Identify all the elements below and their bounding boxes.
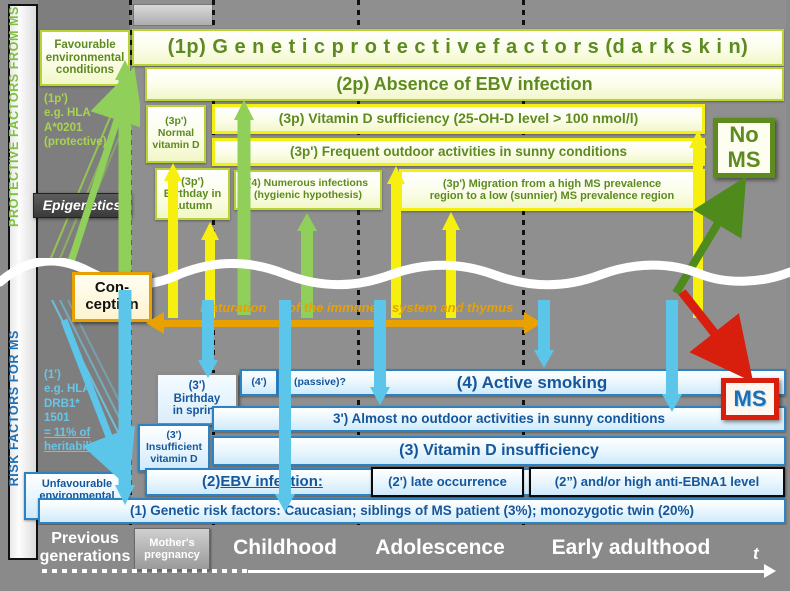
numerous-infections-box: (4) Numerous infections (hygienic hypoth… — [234, 170, 382, 210]
bar-3p-label: (3p) Vitamin D sufficiency (25-OH-D leve… — [279, 111, 639, 127]
bar-3-vitd-insufficiency-label: (3) Vitamin D insufficiency — [399, 442, 599, 460]
bar-4-label: (4) Active smoking — [457, 373, 608, 392]
timeline-prev-gen-line-1: generations — [40, 548, 131, 566]
bar-3pp-label: (3p') Frequent outdoor activities in sun… — [290, 144, 627, 159]
bar-1-genetic-risk: (1) Genetic risk factors: Caucasian; sib… — [38, 498, 786, 524]
migration-line-0: (3p') Migration from a high MS prevalenc… — [443, 178, 661, 190]
timeline-childhood-label: Childhood — [233, 536, 337, 559]
no-ms-outcome-box: No MS — [713, 118, 775, 178]
timeline-cell-childhood: Childhood — [216, 528, 354, 568]
arrow-blue-diagonal-left-svg — [52, 310, 142, 500]
diagram-canvas: PROTECTIVE FACTORS FROM MS RISK FACTORS … — [0, 0, 790, 591]
timeline-adolescence-label: Adolescence — [375, 536, 505, 559]
arrow-green-diagonal-left — [60, 60, 140, 270]
birthday-autumn-line-0: (3p') — [181, 176, 204, 188]
birthday-spring-line-1: Birthday — [174, 393, 221, 406]
timeline-prev-gen-line-0: Previous — [51, 530, 119, 548]
risk-axis-label: RISK FACTORS FOR MS — [7, 330, 21, 486]
bar-2-ebv-prefix: (2) — [202, 474, 220, 491]
passive-tag-label: (4') — [251, 377, 266, 389]
maturation-arrow-head-left — [146, 312, 164, 334]
timeline-cell-previous-generations: Previous generations — [40, 528, 130, 568]
arrow-red-to-ms — [676, 286, 766, 386]
numerous-infections-line-1: (hygienic hypothesis) — [254, 190, 362, 202]
bar-3-vitd-insufficiency: (3) Vitamin D insufficiency — [212, 436, 786, 466]
arrow-blue-birthday-spring-down — [197, 300, 219, 378]
passive-question-label: (passive)? — [294, 377, 346, 389]
normal-vitamin-d-box: (3p') Normal vitamin D — [146, 105, 206, 163]
timeline-pregnancy-line-0: Mother's — [149, 537, 194, 549]
bar-1p-label: (1p) G e n e t i c p r o t e c t i v e f… — [168, 36, 749, 58]
normal-vitamin-d-line-2: vitamin D — [152, 140, 199, 152]
migration-box: (3p') Migration from a high MS prevalenc… — [399, 169, 705, 211]
bar-3-no-outdoor-label: 3') Almost no outdoor activities in sunn… — [333, 411, 665, 426]
bar-2-ebv-label: EBV infection: — [220, 474, 323, 491]
arrow-green-diagonal-left-svg — [60, 60, 140, 270]
no-ms-line-0: No — [729, 123, 758, 148]
ebv-high-ebna1-label: (2”) and/or high anti-EBNA1 level — [555, 475, 759, 490]
bar-3pp-outdoor: (3p') Frequent outdoor activities in sun… — [212, 138, 705, 166]
timeline-cell-adolescence: Adolescence — [360, 528, 520, 568]
maturation-text-part-1: of the immune — [288, 300, 377, 315]
arrow-red-to-ms-svg — [676, 286, 766, 386]
bar-2p-label: (2p) Absence of EBV infection — [336, 74, 592, 94]
migration-line-1: region to a low (sunnier) MS prevalence … — [430, 190, 675, 202]
ebv-late-occurrence-label: (2') late occurrence — [388, 475, 507, 490]
bar-2p-absence-ebv: (2p) Absence of EBV infection — [145, 67, 784, 101]
bar-1-genetic-risk-label: (1) Genetic risk factors: Caucasian; sib… — [130, 503, 694, 518]
timeline-pregnancy-line-1: pregnancy — [144, 549, 200, 561]
ms-outcome-label: MS — [734, 387, 767, 412]
timeline-cell-mothers-pregnancy: Mother's pregnancy — [134, 528, 210, 570]
birthday-spring-line-0: (3') — [189, 380, 206, 393]
passive-tag-box: (4') — [240, 369, 278, 396]
protective-axis-label: PROTECTIVE FACTORS FROM MS — [7, 6, 21, 227]
timeline-axis-arrowhead — [764, 564, 776, 578]
bar-1p-genetic-protective: (1p) G e n e t i c p r o t e c t i v e f… — [132, 29, 784, 66]
timeline-cell-early-adulthood: Early adulthood — [526, 528, 736, 568]
ebv-late-occurrence-box: (2') late occurrence — [371, 467, 524, 497]
bar-3-no-outdoor: 3') Almost no outdoor activities in sunn… — [212, 406, 786, 432]
no-ms-line-1: MS — [728, 148, 761, 173]
top-grey-tab — [133, 4, 213, 26]
arrow-blue-adult-down — [533, 300, 555, 368]
arrow-blue-ebv-down — [274, 300, 296, 512]
bar-3p-vitd-sufficiency: (3p) Vitamin D sufficiency (25-OH-D leve… — [212, 104, 705, 134]
arrow-blue-smoking-down — [369, 300, 391, 405]
time-axis-symbol: t — [753, 544, 759, 564]
timeline-axis-line — [248, 570, 768, 573]
maturation-text-part-2: system and thymus — [392, 300, 513, 315]
timeline-axis-dotted — [42, 569, 248, 573]
timeline-early-adulthood-label: Early adulthood — [552, 536, 711, 559]
insufficient-vitamin-d-line-2: vitamin D — [150, 454, 197, 466]
arrow-blue-diagonal-left — [52, 310, 142, 500]
insufficient-vitamin-d-box: (3') Insufficient vitamin D — [138, 424, 210, 472]
ebv-high-ebna1-box: (2”) and/or high anti-EBNA1 level — [529, 467, 785, 497]
